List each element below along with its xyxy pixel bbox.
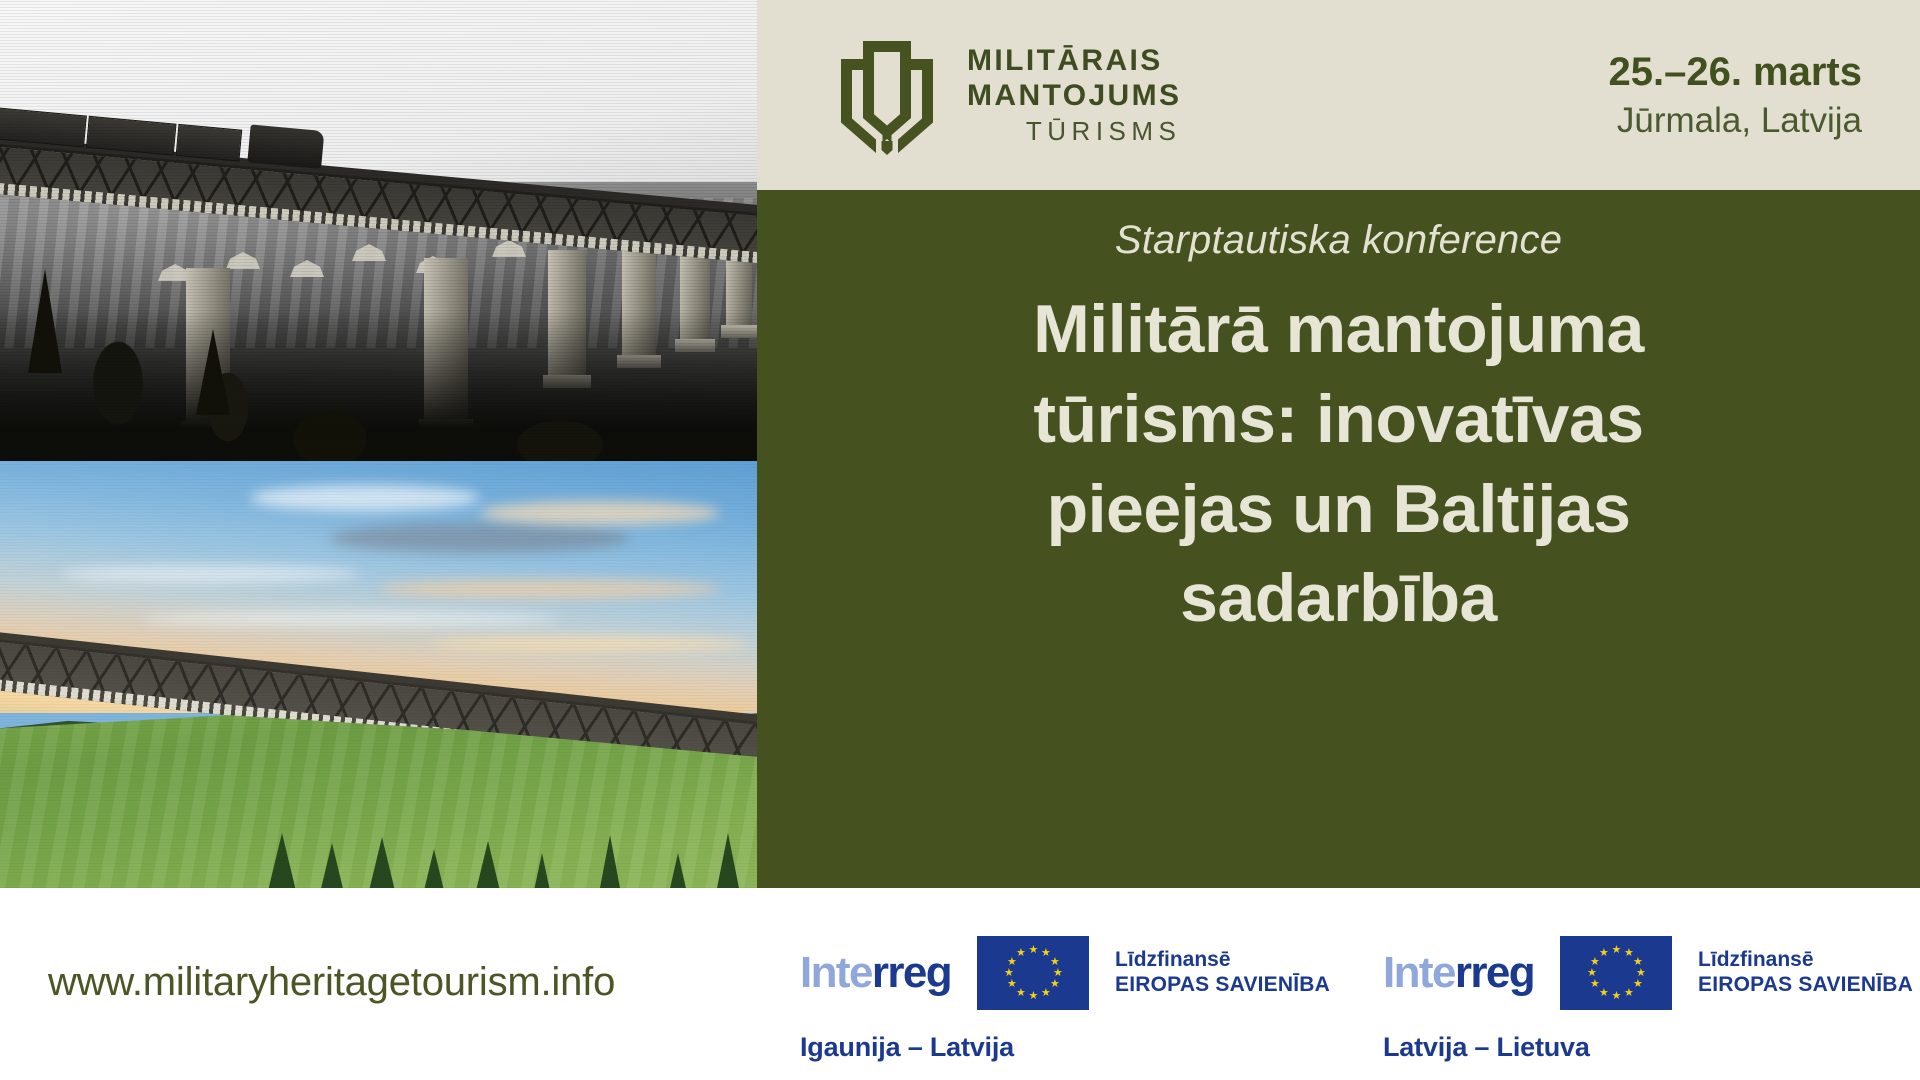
header-band: MILITĀRAIS MANTOJUMS TŪRISMS 25.–26. mar… [757,0,1920,190]
programme-name: Igaunija – Latvija [800,1032,1330,1063]
eu-cofunded-line-2: EIROPAS SAVIENĪBA [1115,973,1330,998]
funding-logo-latvia-lithuania: Interreg ★ ★ ★ ★ ★ ★ ★ ★ ★ ★ ★ ★ Līdzfin… [1383,936,1913,1063]
shield-u-mark-icon [833,35,941,155]
historic-railway-viaduct-photo [0,0,757,461]
eu-flag-icon: ★ ★ ★ ★ ★ ★ ★ ★ ★ ★ ★ ★ [977,936,1089,1010]
historic-foreground-trees [0,311,757,461]
brand-line-2: MANTOJUMS [967,81,1181,111]
eu-cofunded-text: Līdzfinansē EIROPAS SAVIENĪBA [1698,948,1913,998]
footer-band: www.militaryheritagetourism.info Interre… [0,888,1920,1080]
interreg-wordmark: Interreg [800,953,951,993]
event-location: Jūrmala, Latvija [1608,101,1862,140]
brand-line-1: MILITĀRAIS [967,46,1181,76]
conference-poster: MILITĀRAIS MANTOJUMS TŪRISMS 25.–26. mar… [0,0,1920,1080]
brand-lockup: MILITĀRAIS MANTOJUMS TŪRISMS [757,35,1181,155]
interreg-wordmark: Interreg [1383,953,1534,993]
title-band: Starptautiska konference Militārā mantoj… [757,190,1920,888]
eu-flag-icon: ★ ★ ★ ★ ★ ★ ★ ★ ★ ★ ★ ★ [1560,936,1672,1010]
event-title-line: pieejas un Baltijas [899,465,1779,555]
event-date-block: 25.–26. marts Jūrmala, Latvija [1608,50,1920,140]
eu-cofunded-line-1: Līdzfinansē [1115,948,1330,973]
event-title-line: sadarbība [899,554,1779,644]
modern-railway-viaduct-photo [0,461,757,888]
event-dates: 25.–26. marts [1608,50,1862,95]
interreg-wordmark-part-2: rreg [1455,948,1534,997]
eu-cofunded-line-2: EIROPAS SAVIENĪBA [1698,973,1913,998]
programme-name: Latvija – Lietuva [1383,1032,1913,1063]
event-title: Militārā mantojuma tūrisms: inovatīvas p… [899,285,1779,644]
interreg-wordmark-part-1: Inte [1383,948,1455,997]
funding-logo-estonia-latvia: Interreg ★ ★ ★ ★ ★ ★ ★ ★ ★ ★ ★ ★ Līdzfin… [800,936,1330,1063]
event-title-line: tūrisms: inovatīvas [899,375,1779,465]
eu-cofunded-text: Līdzfinansē EIROPAS SAVIENĪBA [1115,948,1330,998]
event-title-line: Militārā mantojuma [899,285,1779,375]
event-kicker: Starptautiska konference [1115,218,1562,263]
photo-column [0,0,757,888]
interreg-wordmark-part-1: Inte [800,948,872,997]
brand-wordmark: MILITĀRAIS MANTOJUMS TŪRISMS [967,46,1181,144]
right-panel: MILITĀRAIS MANTOJUMS TŪRISMS 25.–26. mar… [757,0,1920,888]
eu-cofunded-line-1: Līdzfinansē [1698,948,1913,973]
website-url[interactable]: www.militaryheritagetourism.info [48,960,615,1005]
brand-line-3: TŪRISMS [967,118,1181,144]
interreg-wordmark-part-2: rreg [872,948,951,997]
